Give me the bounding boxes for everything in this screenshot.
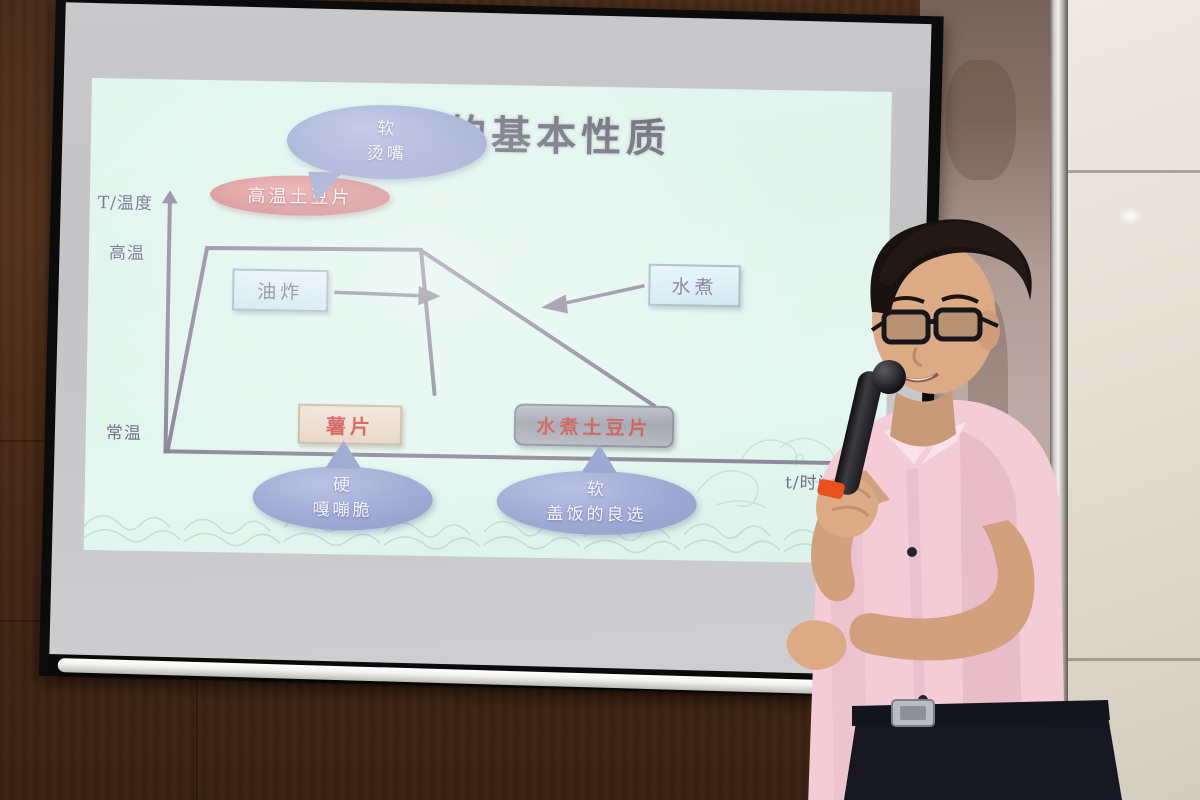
presenter (0, 0, 1200, 800)
microphone-head (872, 360, 906, 394)
presenter-trousers (844, 716, 1122, 800)
lecture-photo-scene: 土豆片的基本性质 (0, 0, 1200, 800)
shirt-button (907, 547, 917, 557)
presenter-neck (890, 390, 956, 447)
